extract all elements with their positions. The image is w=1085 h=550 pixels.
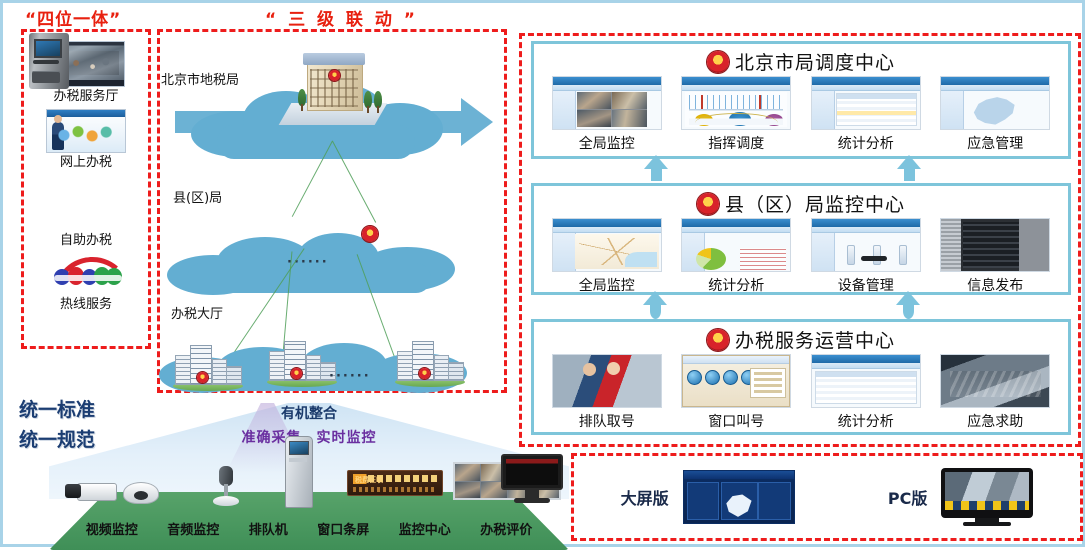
panel-title: 办税服务运营中心	[735, 326, 895, 353]
panel-municipal-dispatch-center: 北京市局调度中心 全局监控 指挥调度	[531, 41, 1071, 159]
integration-platform: 有机整合 准确采集 实时监控 税费征收 视频监控 音频监控 排队机	[49, 403, 569, 550]
server-rack-screenshot	[940, 218, 1050, 272]
card-window-calling[interactable]: 窗口叫号	[679, 354, 793, 431]
dispatch-chart-screenshot	[681, 76, 791, 130]
hotline-12366-logo-icon	[46, 253, 126, 295]
municipal-bureau-building-icon	[285, 51, 381, 125]
panel-header: 县（区）局监控中心	[534, 190, 1068, 217]
client-pc[interactable]: PC版	[888, 468, 1033, 526]
device-label: 窗口条屏	[317, 519, 369, 538]
card-global-monitoring[interactable]: 全局监控	[550, 76, 664, 153]
device-label: 办税评价	[480, 519, 532, 538]
pc-monitor-thumb	[941, 468, 1033, 526]
card-label: 统计分析	[838, 411, 894, 431]
tax-hall-building-icon	[171, 345, 245, 391]
online-tax-screenshot	[46, 109, 126, 153]
group-title-four-in-one: “四位一体”	[25, 5, 121, 30]
emergency-map-screenshot	[940, 76, 1050, 130]
device-label: 音频监控	[167, 519, 219, 538]
group-box-clients: 大屏版 PC版	[571, 453, 1083, 541]
client-big-screen[interactable]: 大屏版	[621, 470, 795, 524]
card-device-management[interactable]: 设备管理	[809, 218, 923, 295]
diagram-canvas: “四位一体” 办税服务厅 网上办税 自助办税 热线服务 “ 三 级 联	[0, 0, 1085, 547]
left-item-online-tax[interactable]: 网上办税	[25, 109, 147, 173]
left-item-label: 热线服务	[60, 295, 112, 315]
county-bureau-emblem-icon	[362, 226, 378, 242]
video-camera-icon	[65, 480, 117, 504]
card-label: 窗口叫号	[708, 411, 764, 431]
card-label: 排队取号	[579, 411, 635, 431]
microphone-icon	[213, 466, 239, 506]
tax-hall-building-icon	[265, 341, 339, 387]
panel-title: 县（区）局监控中心	[725, 190, 905, 217]
card-label: 统计分析	[838, 133, 894, 153]
hall-escalator-photo	[940, 354, 1050, 408]
video-wall-monitoring-screenshot	[552, 76, 662, 130]
card-label: 全局监控	[579, 133, 635, 153]
tier3-ellipsis: ······	[329, 369, 371, 384]
panel-card-list: 全局监控 统计分析 设备管理	[542, 218, 1060, 288]
panel-header: 办税服务运营中心	[534, 326, 1068, 353]
left-item-label: 网上办税	[60, 153, 112, 173]
card-label: 指挥调度	[708, 133, 764, 153]
evaluation-monitor-icon	[501, 454, 563, 504]
card-label: 信息发布	[967, 275, 1023, 295]
dome-camera-icon	[123, 482, 157, 506]
platform-device-labels: 视频监控 音频监控 排队机 窗口条屏 监控中心 办税评价	[49, 519, 569, 538]
card-label: 应急求助	[967, 411, 1023, 431]
device-label: 监控中心	[399, 519, 451, 538]
left-item-self-service[interactable]: 自助办税	[25, 175, 147, 251]
tax-hall-building-icon	[393, 341, 467, 387]
client-label: 大屏版	[621, 485, 669, 509]
card-emergency-help[interactable]: 应急求助	[938, 354, 1052, 431]
left-item-label: 办税服务厅	[53, 87, 118, 107]
device-label: 视频监控	[86, 519, 138, 538]
pie-chart-screenshot	[681, 218, 791, 272]
national-emblem-icon	[707, 329, 729, 351]
client-label: PC版	[888, 485, 927, 509]
three-tier-cloud-diagram: 北京市地税局 ······ 县(区)局	[161, 33, 503, 393]
tier1-label: 北京市地税局	[161, 69, 239, 88]
card-statistical-analysis[interactable]: 统计分析	[809, 76, 923, 153]
window-calling-ui-screenshot	[681, 354, 791, 408]
group-title-three-tier: “ 三 级 联 动 ”	[265, 5, 418, 30]
panel-tax-service-operation-center: 办税服务运营中心 排队取号 窗口叫号	[531, 319, 1071, 435]
card-statistical-analysis[interactable]: 统计分析	[679, 218, 793, 295]
four-in-one-items: 办税服务厅 网上办税 自助办税 热线服务	[25, 33, 147, 345]
big-screen-dashboard-thumb	[683, 470, 795, 524]
card-label: 全局监控	[579, 275, 635, 295]
left-item-hotline[interactable]: 热线服务	[25, 253, 147, 315]
tier2-label: 县(区)局	[173, 187, 222, 206]
panel-title: 北京市局调度中心	[735, 48, 895, 75]
strip-screen-text: 税费征收	[355, 475, 383, 485]
national-emblem-icon	[707, 51, 729, 73]
device-label: 排队机	[249, 519, 288, 538]
road-map-screenshot	[552, 218, 662, 272]
card-information-release[interactable]: 信息发布	[938, 218, 1052, 295]
platform-title: 有机整合	[49, 403, 569, 423]
panel-card-list: 排队取号 窗口叫号 统计分析	[542, 354, 1060, 428]
left-item-label: 自助办税	[60, 231, 112, 251]
queue-kiosk-icon	[285, 436, 311, 506]
panel-county-monitoring-center: 县（区）局监控中心 全局监控 统计分析	[531, 183, 1071, 295]
card-command-dispatch[interactable]: 指挥调度	[679, 76, 793, 153]
card-label: 应急管理	[967, 133, 1023, 153]
self-service-kiosk-icon	[62, 175, 110, 231]
device-management-screenshot	[811, 218, 921, 272]
panel-header: 北京市局调度中心	[534, 48, 1068, 75]
client-list: 大屏版 PC版	[574, 456, 1080, 538]
tier3-label: 办税大厅	[171, 303, 223, 322]
card-global-monitoring[interactable]: 全局监控	[550, 218, 664, 295]
statistics-table-screenshot	[811, 354, 921, 408]
national-emblem-icon	[697, 193, 719, 215]
led-strip-screen-icon: 税费征收	[347, 470, 443, 496]
queue-ticket-photo	[552, 354, 662, 408]
card-statistical-analysis[interactable]: 统计分析	[809, 354, 923, 431]
card-label: 统计分析	[708, 275, 764, 295]
panel-card-list: 全局监控 指挥调度 统计分析	[542, 76, 1060, 152]
card-emergency-management[interactable]: 应急管理	[938, 76, 1052, 153]
statistics-table-screenshot	[811, 76, 921, 130]
card-label: 设备管理	[838, 275, 894, 295]
